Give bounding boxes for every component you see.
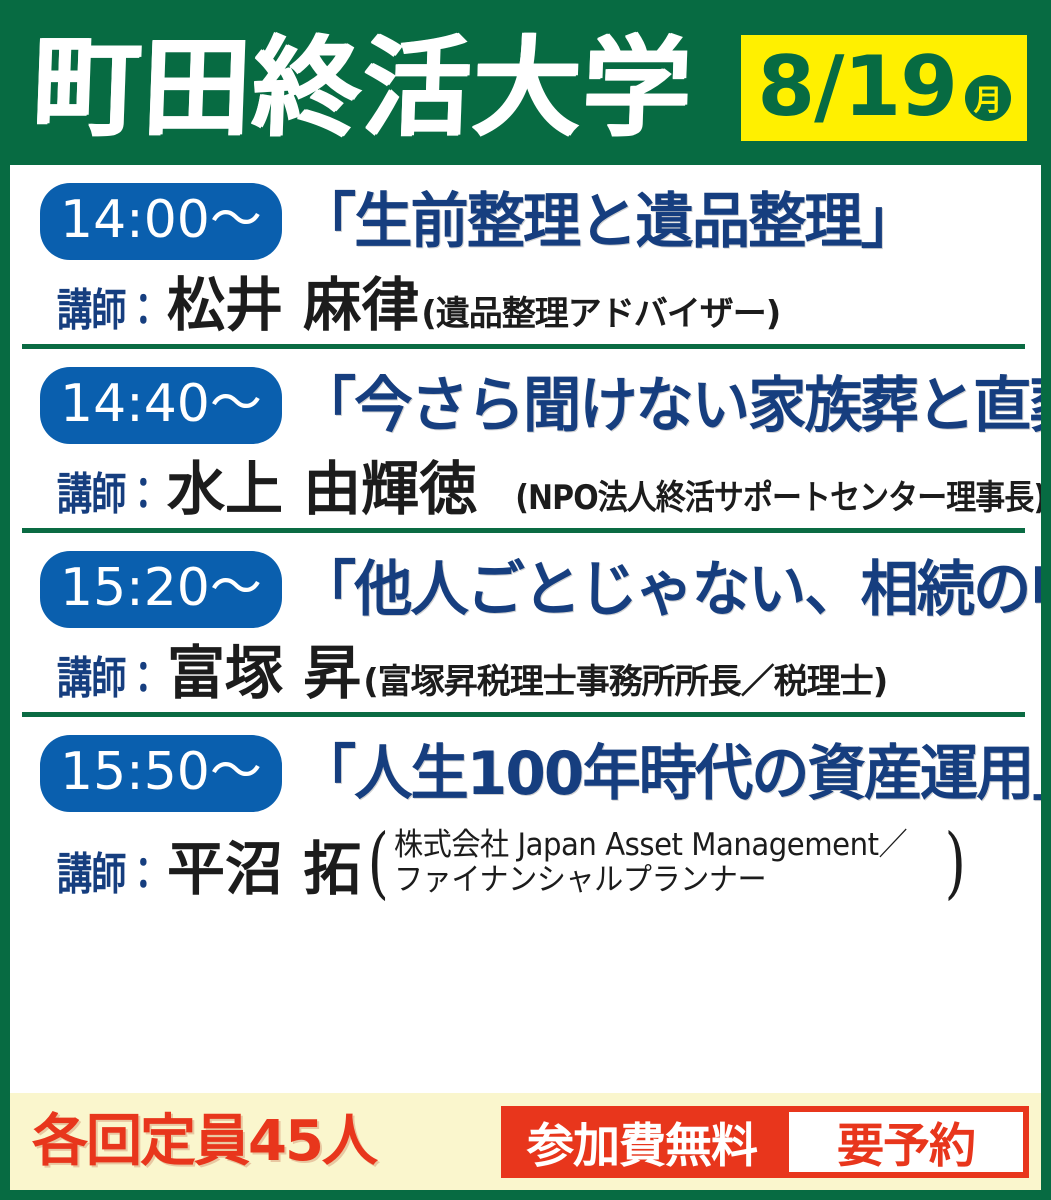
- session-title: 「人生100年時代の資産運用」: [298, 744, 1051, 804]
- lecturer-row: 講師： 水上 由輝徳 (NPO法人終活サポートセンター理事長): [40, 460, 1027, 518]
- lecturer-affiliation: (NPO法人終活サポートセンター理事長): [515, 481, 1046, 515]
- session-item: 15:50〜 「人生100年時代の資産運用」 講師： 平沼 拓 ( 株式会社 J…: [10, 717, 1041, 908]
- lecturer-affiliation: (遺品整理アドバイザー): [421, 297, 780, 331]
- session-heading: 14:00〜 「生前整理と遺品整理」: [40, 183, 1027, 260]
- session-heading: 15:20〜 「他人ごとじゃない、相続の申告」: [40, 551, 1027, 628]
- free-admission-badge: 参加費無料: [501, 1106, 783, 1178]
- date-badge: 8/19 月: [741, 35, 1027, 141]
- paren-close: ): [944, 832, 965, 894]
- lecturer-row: 講師： 富塚 昇 (富塚昇税理士事務所所長／税理士): [40, 644, 1027, 702]
- time-badge: 14:40〜: [40, 367, 282, 444]
- time-badge: 15:20〜: [40, 551, 282, 628]
- footer-badges: 参加費無料 要予約: [501, 1106, 1029, 1178]
- session-title: 「今さら聞けない家族葬と直葬」: [298, 376, 1051, 436]
- session-heading: 15:50〜 「人生100年時代の資産運用」: [40, 735, 1027, 812]
- affiliation-lines: 株式会社 Japan Asset Management／ ファイナンシャルプラン…: [394, 828, 940, 897]
- time-badge: 14:00〜: [40, 183, 282, 260]
- date-number: 8/19: [757, 45, 957, 128]
- session-item: 14:40〜 「今さら聞けない家族葬と直葬」 講師： 水上 由輝徳 (NPO法人…: [10, 349, 1041, 528]
- lecturer-name: 富塚 昇: [167, 644, 361, 702]
- lecturer-name: 松井 麻律: [167, 276, 419, 334]
- poster-footer: 各回定員45人 参加費無料 要予約: [10, 1093, 1041, 1190]
- lecturer-label: 講師：: [57, 289, 160, 333]
- session-item: 15:20〜 「他人ごとじゃない、相続の申告」 講師： 富塚 昇 (富塚昇税理士…: [10, 533, 1041, 712]
- capacity-text: 各回定員45人: [32, 1114, 376, 1170]
- affiliation-line-2: ファイナンシャルプランナー: [394, 863, 907, 898]
- session-title: 「生前整理と遺品整理」: [298, 192, 1005, 252]
- lecturer-name: 平沼 拓: [167, 840, 361, 898]
- event-poster: 町田終活大学 8/19 月 14:00〜 「生前整理と遺品整理」 講師： 松井 …: [0, 0, 1051, 1200]
- lecturer-label: 講師：: [57, 853, 160, 897]
- lecturer-label: 講師：: [57, 473, 160, 517]
- lecturer-row: 講師： 松井 麻律 (遺品整理アドバイザー): [40, 276, 1027, 334]
- lecturer-affiliation: (富塚昇税理士事務所所長／税理士): [363, 665, 887, 699]
- lecturer-affiliation: ( 株式会社 Japan Asset Management／ ファイナンシャルプ…: [363, 828, 970, 897]
- lecturer-name: 水上 由輝徳: [167, 460, 477, 518]
- day-of-week-circle: 月: [965, 75, 1011, 121]
- session-heading: 14:40〜 「今さら聞けない家族葬と直葬」: [40, 367, 1027, 444]
- session-item: 14:00〜 「生前整理と遺品整理」 講師： 松井 麻律 (遺品整理アドバイザー…: [10, 165, 1041, 344]
- time-badge: 15:50〜: [40, 735, 282, 812]
- paren-open: (: [368, 832, 389, 894]
- poster-title: 町田終活大学: [30, 34, 694, 142]
- poster-header: 町田終活大学 8/19 月: [10, 10, 1041, 165]
- lecturer-row: 講師： 平沼 拓 ( 株式会社 Japan Asset Management／ …: [40, 828, 1027, 898]
- lecturer-label: 講師：: [57, 657, 160, 701]
- session-title: 「他人ごとじゃない、相続の申告」: [298, 560, 1051, 620]
- reservation-required-badge: 要予約: [783, 1106, 1029, 1178]
- session-list: 14:00〜 「生前整理と遺品整理」 講師： 松井 麻律 (遺品整理アドバイザー…: [10, 165, 1041, 908]
- affiliation-line-1: 株式会社 Japan Asset Management／: [394, 828, 907, 863]
